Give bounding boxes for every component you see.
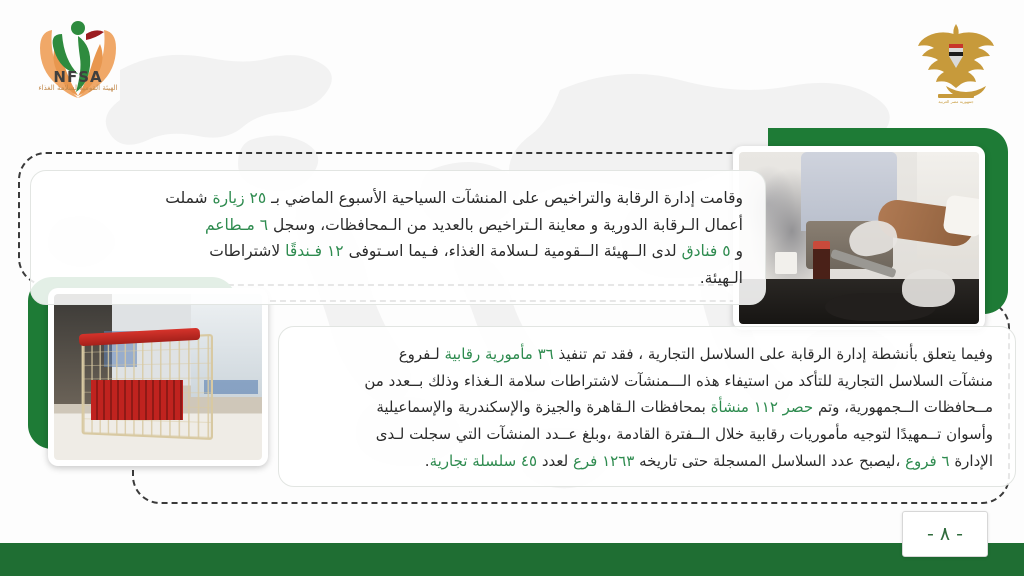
paragraph-line: أعمال الـرقابة الدورية و معاينة الـتراخي… xyxy=(53,212,743,239)
basket-photo-image xyxy=(54,294,262,460)
highlighted-figure: حصر ١١٢ منشأة xyxy=(711,398,814,416)
highlighted-figure: ٤٥ سلسلة تجارية xyxy=(430,452,537,470)
paragraph-line: الإدارة ٦ فروع ،ليصبح عدد السلاسل المسجل… xyxy=(301,448,993,475)
paragraph-line: مــحافظات الــجمهورية، وتم حصر ١١٢ منشأة… xyxy=(301,394,993,421)
nfsa-logo-subtitle: الهيئة القومية لسلامة الغذاء xyxy=(14,84,142,92)
chef-photo-image xyxy=(739,152,979,324)
highlighted-figure: ١٢٦٣ فرع xyxy=(573,452,634,470)
highlighted-figure: ٥ فنادق xyxy=(682,242,731,260)
text-block-commercial-chains: وفيما يتعلق بأنشطة إدارة الرقابة على الس… xyxy=(278,326,1016,487)
text-block-tourism-facilities: وقامت إدارة الرقابة والتراخيص على المنشآ… xyxy=(30,170,766,305)
paragraph-line: وقامت إدارة الرقابة والتراخيص على المنشآ… xyxy=(53,185,743,212)
paragraph-line: وأسوان تــمهيدًا لتوجيه مأموريات رقابية … xyxy=(301,421,993,448)
highlighted-figure: ٦ مـطاعم xyxy=(205,216,268,234)
page-number-badge: - ٨ - xyxy=(902,511,988,557)
chef-cooking-photo xyxy=(733,146,985,330)
highlighted-figure: ١٢ فـندقًا xyxy=(285,242,343,260)
paragraph-line: الـهيئة. xyxy=(53,265,743,292)
paragraph-line: وفيما يتعلق بأنشطة إدارة الرقابة على الس… xyxy=(301,341,993,368)
highlighted-figure: ٣٦ مأمورية رقابية xyxy=(444,345,553,363)
svg-text:جمهورية مصر العربية: جمهورية مصر العربية xyxy=(938,99,974,104)
paragraph-line: منشآت السلاسل التجارية للتأكد من استيفاء… xyxy=(301,368,993,395)
paragraph-line: و ٥ فنادق لدى الــهيئة الــقومية لـسلامة… xyxy=(53,238,743,265)
slide-root: NFSA الهيئة القومية لسلامة الغذاء جمهوري… xyxy=(0,0,1024,576)
highlighted-figure: ٢٥ زيارة xyxy=(212,189,266,207)
footer-bar xyxy=(0,543,1024,576)
highlighted-figure: ٦ فروع xyxy=(905,452,949,470)
egypt-eagle-emblem-icon: جمهورية مصر العربية xyxy=(916,16,996,108)
shopping-basket-photo xyxy=(48,288,268,466)
